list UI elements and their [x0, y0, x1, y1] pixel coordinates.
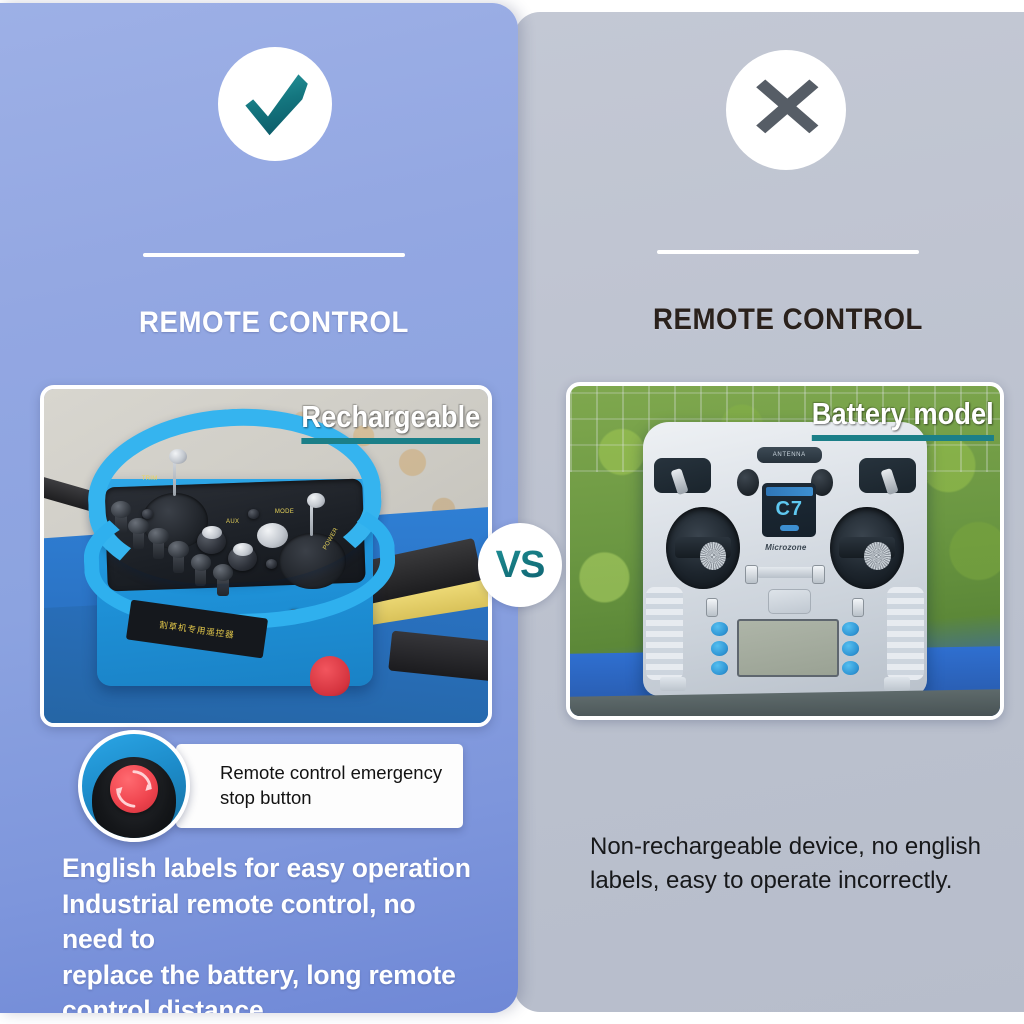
foot-left [660, 677, 686, 691]
gimbal-wheel-right [864, 542, 891, 570]
x-icon-badge: ✕ [726, 50, 846, 170]
lcd-display [737, 619, 839, 677]
gimbal-right [830, 507, 904, 589]
transmitter-body: ANTENNA C7 Microzone [643, 422, 927, 696]
bad-product-photo: ANTENNA C7 Microzone [566, 382, 1004, 720]
brand-text: Microzone [765, 543, 806, 552]
rechargeable-badge: Rechargeable [301, 401, 480, 444]
good-panel-title: REMOTE CONTROL [121, 306, 426, 340]
check-icon [236, 65, 314, 143]
gimbal-left [666, 507, 740, 589]
divider-line-bad [657, 250, 919, 254]
callout-label-box: Remote control emergency stop button [176, 744, 463, 828]
check-icon-badge [218, 47, 332, 161]
lcd-button-2 [711, 641, 728, 655]
rotate-arrows-icon [110, 765, 158, 813]
trim-slider-4 [852, 598, 865, 617]
divider-line-good [143, 253, 405, 257]
transmitter-screen: C7 [762, 483, 816, 538]
x-icon: ✕ [746, 65, 827, 151]
trim-slider-3 [706, 598, 719, 617]
versus-label: VS [496, 544, 545, 587]
center-handle [757, 567, 819, 578]
bad-product-panel: ✕ REMOTE CONTROL ANTENNA [514, 12, 1024, 1012]
power-button [768, 589, 811, 614]
device-model-text: C7 [775, 498, 803, 521]
good-product-photo: TRIM AUX MODE POWER 割草机专用遥控器 Rechargeabl… [40, 385, 492, 727]
lcd-button-4 [842, 622, 859, 636]
bad-panel-description: Non-rechargeable device, no english labe… [590, 830, 990, 898]
top-knob-left [737, 469, 760, 496]
trim-slider-2 [812, 565, 825, 584]
battery-model-badge: Battery model [812, 398, 994, 441]
gimbal-wheel-left [700, 542, 727, 570]
emergency-stop-button-icon [78, 730, 190, 842]
foot-right [884, 677, 910, 691]
grip-left [646, 587, 683, 680]
emergency-stop-callout: Remote control emergency stop button [78, 730, 463, 842]
bad-panel-title: REMOTE CONTROL [635, 303, 940, 337]
good-panel-description: English labels for easy operation Indust… [62, 851, 482, 1013]
emergency-stop-on-device [310, 656, 350, 696]
callout-label-text: Remote control emergency stop button [220, 761, 451, 811]
lcd-button-5 [842, 641, 859, 655]
grip-right [887, 587, 924, 680]
antenna-label-tab: ANTENNA [757, 447, 822, 463]
lcd-button-6 [842, 661, 859, 675]
lcd-button-1 [711, 622, 728, 636]
screen-topbar [766, 487, 813, 496]
antenna-label-text: ANTENNA [773, 452, 806, 458]
good-product-panel: REMOTE CONTROL [0, 3, 518, 1013]
screen-pill [780, 525, 799, 531]
versus-badge: VS [478, 523, 562, 607]
comparison-infographic: REMOTE CONTROL [0, 0, 1024, 1024]
lcd-button-3 [711, 661, 728, 675]
trim-slider-1 [745, 565, 758, 584]
product-name-plate-text: 割草机专用遥控器 [159, 618, 236, 641]
